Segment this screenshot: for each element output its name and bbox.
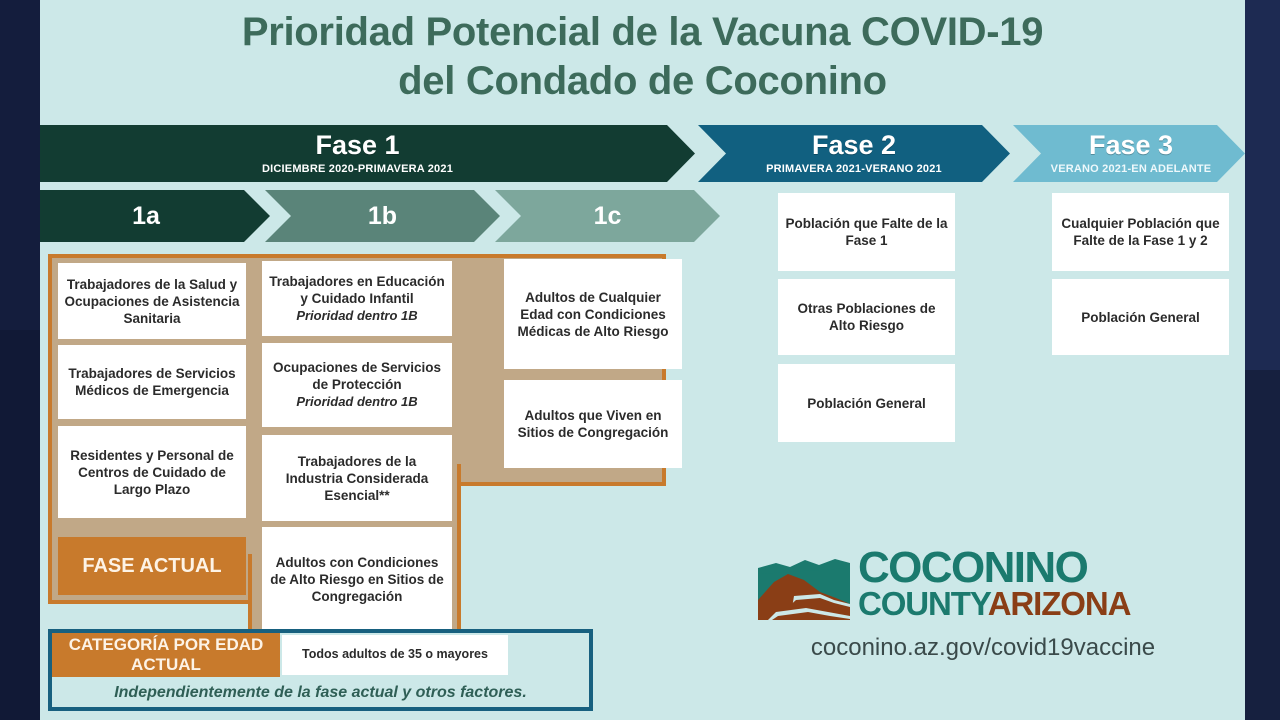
page-title: Prioridad Potencial de la Vacuna COVID-1… [40,8,1245,106]
phase1-1b-item-2-text: Ocupaciones de Servicios de Protección [268,359,446,393]
deck-backdrop-right-lower [1245,370,1280,720]
phase1-1b-item-2-note: Prioridad dentro 1B [296,394,417,410]
phase2-item-3: Población General [778,364,955,442]
logo-secondary-text: COUNTYARIZONA [858,589,1130,619]
logo-wordmark: COCONINO COUNTYARIZONA [858,548,1130,620]
phase1-1a-item-1: Trabajadores de la Salud y Ocupaciones d… [58,263,246,339]
age-category-note: Independientemente de la fase actual y o… [52,679,589,707]
subphase-row: 1a 1b 1c [40,190,720,242]
phase1-1b-item-3: Trabajadores de la Industria Considerada… [262,435,452,521]
slide-stage: Prioridad Potencial de la Vacuna COVID-1… [0,0,1280,720]
page-title-line-2: del Condado de Coconino [40,57,1245,106]
age-category-heading: CATEGORÍA POR EDAD ACTUAL [52,633,280,677]
phase-chevron-2[interactable]: Fase 2 PRIMAVERA 2021-VERANO 2021 [698,125,1010,182]
phase-1-name: Fase 1 [315,132,399,159]
age-category-band: CATEGORÍA POR EDAD ACTUAL Todos adultos … [48,629,593,711]
phase2-item-1: Población que Falte de la Fase 1 [778,193,955,271]
subphase-chevron-1b[interactable]: 1b [265,190,500,242]
logo-primary-text: COCONINO [858,548,1130,588]
logo-row: COCONINO COUNTYARIZONA [758,548,1130,620]
phase-3-name: Fase 3 [1089,132,1173,159]
phase-2-name: Fase 2 [812,132,896,159]
phase1-1c-item-2: Adultos que Viven en Sitios de Congregac… [504,380,682,468]
current-phase-badge: FASE ACTUAL [58,537,246,595]
phase1-1a-item-3: Residentes y Personal de Centros de Cuid… [58,426,246,518]
logo-arizona-text: ARIZONA [988,585,1131,622]
phase-banner: Fase 1 DICIEMBRE 2020-PRIMAVERA 2021 Fas… [40,125,1245,182]
subphase-chevron-1c[interactable]: 1c [495,190,720,242]
mountain-mesa-logo-icon [758,548,850,620]
phase3-item-2: Población General [1052,279,1229,355]
phase1-1b-item-4: Adultos con Condiciones de Alto Riesgo e… [262,527,452,631]
deck-backdrop-left-lower [0,330,40,720]
phase-3-dates: VERANO 2021-EN ADELANTE [1051,163,1212,175]
phase2-item-2: Otras Poblaciones de Alto Riesgo [778,279,955,355]
phase1-1c-item-1: Adultos de Cualquier Edad con Condicione… [504,259,682,369]
phase-2-dates: PRIMAVERA 2021-VERANO 2021 [766,163,942,175]
page-title-line-1: Prioridad Potencial de la Vacuna COVID-1… [40,8,1245,57]
phase3-item-1: Cualquier Población que Falte de la Fase… [1052,193,1229,271]
phase1-1b-item-2: Ocupaciones de Servicios de Protección P… [262,343,452,427]
county-logo: COCONINO COUNTYARIZONA coconino.az.gov/c… [758,548,1208,678]
phase-chevron-3[interactable]: Fase 3 VERANO 2021-EN ADELANTE [1013,125,1245,182]
subphase-chevron-1a[interactable]: 1a [40,190,270,242]
phase1-1b-item-1-text: Trabajadores en Educación y Cuidado Infa… [268,273,446,307]
logo-county-text: COUNTY [858,585,988,622]
phase1-1a-item-2: Trabajadores de Servicios Médicos de Eme… [58,345,246,419]
phase1-1b-item-1: Trabajadores en Educación y Cuidado Infa… [262,261,452,336]
phase1-1b-item-1-note: Prioridad dentro 1B [296,308,417,324]
vaccine-url[interactable]: coconino.az.gov/covid19vaccine [760,634,1206,662]
slide-canvas: Prioridad Potencial de la Vacuna COVID-1… [40,0,1245,720]
phase-chevron-1[interactable]: Fase 1 DICIEMBRE 2020-PRIMAVERA 2021 [40,125,695,182]
age-category-value: Todos adultos de 35 o mayores [282,635,508,675]
phase-1-dates: DICIEMBRE 2020-PRIMAVERA 2021 [262,163,453,175]
